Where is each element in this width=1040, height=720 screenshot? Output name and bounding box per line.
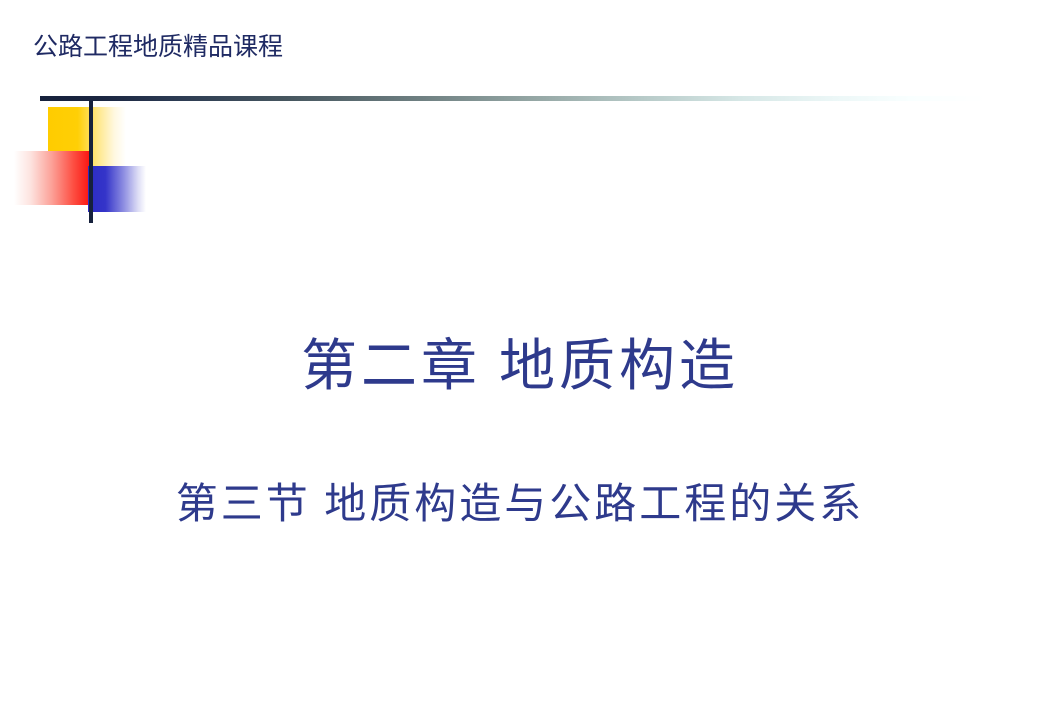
decorative-logo (0, 90, 300, 230)
chapter-title: 第二章 地质构造 (0, 333, 1040, 401)
logo-vertical-rule (89, 99, 93, 223)
logo-blue-rectangle (88, 166, 146, 212)
section-title: 第三节 地质构造与公路工程的关系 (0, 478, 1040, 532)
course-header-title: 公路工程地质精品课程 (33, 33, 283, 63)
header-horizontal-rule (40, 96, 986, 101)
logo-red-rectangle (14, 151, 90, 205)
slide-canvas: 公路工程地质精品课程 第二章 地质构造 第三节 地质构造与公路工程的关系 (0, 0, 1040, 720)
